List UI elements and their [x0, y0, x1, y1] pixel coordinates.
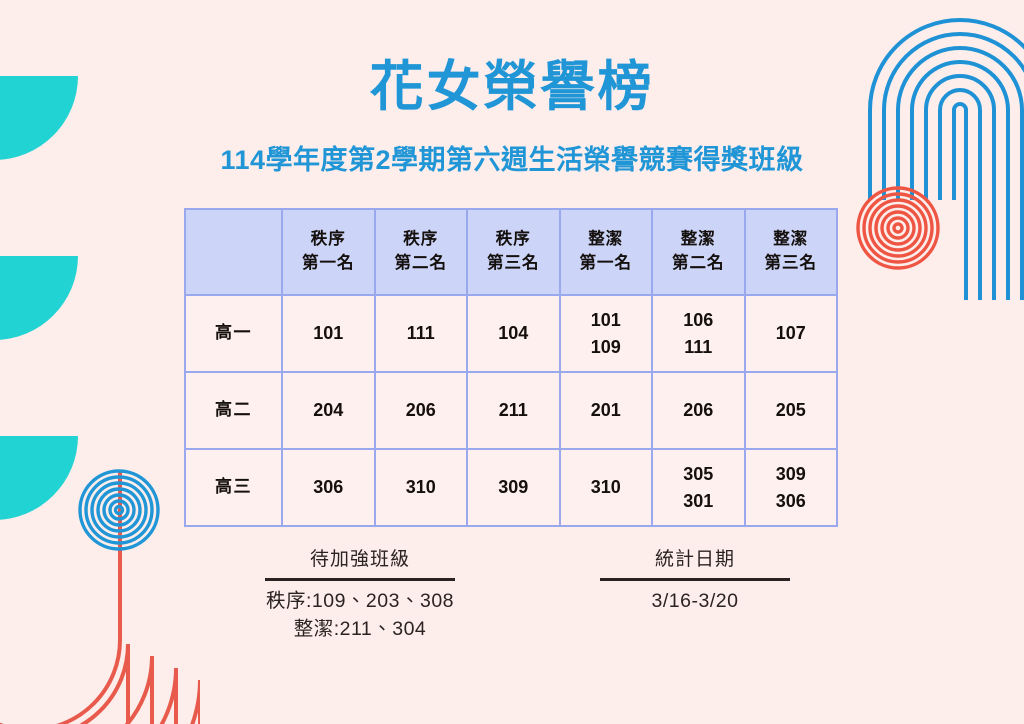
column-header-rank: 第三名	[468, 252, 559, 276]
statistics-date-block: 統計日期 3/16-3/20	[575, 548, 815, 615]
cell-value: 206	[653, 397, 744, 423]
table-cell: 205	[745, 372, 838, 449]
table-cell: 104	[467, 295, 560, 372]
cell-value: 101	[283, 320, 374, 346]
column-header-rank: 第二名	[653, 252, 744, 276]
row-header-grade: 高三	[185, 449, 282, 526]
column-header: 秩序 第一名	[282, 209, 375, 295]
column-header: 整潔 第三名	[745, 209, 838, 295]
needs-improvement-order-line: 秩序:109、203、308	[240, 587, 480, 615]
table-corner-cell	[185, 209, 282, 295]
cell-value: 204	[283, 397, 374, 423]
column-header-rank: 第一名	[561, 252, 652, 276]
table-cell: 101 109	[560, 295, 653, 372]
page-title: 花女榮譽榜	[0, 56, 1024, 118]
table-cell: 211	[467, 372, 560, 449]
column-header-rank: 第三名	[746, 252, 837, 276]
column-header-category: 整潔	[746, 228, 837, 252]
column-header-category: 秩序	[468, 228, 559, 252]
table-cell: 206	[652, 372, 745, 449]
table-cell: 101	[282, 295, 375, 372]
honor-roll-table: 秩序 第一名 秩序 第二名 秩序 第三名 整潔 第一名 整潔 第二名	[184, 208, 838, 527]
cell-value: 206	[376, 397, 467, 423]
cell-value: 309	[468, 474, 559, 500]
needs-improvement-block: 待加強班級 秩序:109、203、308 整潔:211、304	[240, 548, 480, 643]
column-header-rank: 第二名	[376, 252, 467, 276]
cell-value: 310	[376, 474, 467, 500]
table-cell: 204	[282, 372, 375, 449]
column-header-category: 整潔	[653, 228, 744, 252]
divider-rule	[265, 578, 455, 581]
cell-value: 306	[283, 474, 374, 500]
table-cell: 305 301	[652, 449, 745, 526]
cell-value-secondary: 306	[746, 488, 837, 514]
column-header: 秩序 第二名	[375, 209, 468, 295]
cell-value: 211	[468, 397, 559, 423]
table-cell: 310	[375, 449, 468, 526]
table-cell: 309	[467, 449, 560, 526]
cell-value: 305	[653, 461, 744, 487]
cell-value: 104	[468, 320, 559, 346]
statistics-date-title: 統計日期	[575, 548, 815, 573]
divider-rule	[600, 578, 790, 581]
table-cell: 201	[560, 372, 653, 449]
statistics-date-value: 3/16-3/20	[575, 587, 815, 615]
table-header-row: 秩序 第一名 秩序 第二名 秩序 第三名 整潔 第一名 整潔 第二名	[185, 209, 837, 295]
column-header: 整潔 第二名	[652, 209, 745, 295]
column-header: 秩序 第三名	[467, 209, 560, 295]
column-header-category: 秩序	[283, 228, 374, 252]
cell-value: 201	[561, 397, 652, 423]
column-header-category: 秩序	[376, 228, 467, 252]
needs-improvement-title: 待加強班級	[240, 548, 480, 573]
column-header-rank: 第一名	[283, 252, 374, 276]
cell-value: 107	[746, 320, 837, 346]
table-row: 高二 204 206 211 201 206	[185, 372, 837, 449]
column-header: 整潔 第一名	[560, 209, 653, 295]
page-subtitle: 114學年度第2學期第六週生活榮譽競賽得獎班級	[0, 144, 1024, 176]
cell-value: 309	[746, 461, 837, 487]
cell-value: 310	[561, 474, 652, 500]
column-header-category: 整潔	[561, 228, 652, 252]
table-cell: 107	[745, 295, 838, 372]
table-cell: 309 306	[745, 449, 838, 526]
table-cell: 310	[560, 449, 653, 526]
table-cell: 106 111	[652, 295, 745, 372]
row-header-grade: 高二	[185, 372, 282, 449]
row-header-grade: 高一	[185, 295, 282, 372]
table-row: 高一 101 111 104 101 109 106	[185, 295, 837, 372]
table-cell: 206	[375, 372, 468, 449]
cell-value: 205	[746, 397, 837, 423]
cell-value: 101	[561, 307, 652, 333]
cell-value-secondary: 301	[653, 488, 744, 514]
table-row: 高三 306 310 309 310 305	[185, 449, 837, 526]
needs-improvement-cleanliness-line: 整潔:211、304	[240, 615, 480, 643]
table-cell: 306	[282, 449, 375, 526]
cell-value: 106	[653, 307, 744, 333]
cell-value-secondary: 111	[653, 334, 744, 360]
table-cell: 111	[375, 295, 468, 372]
cell-value: 111	[376, 320, 467, 346]
cell-value-secondary: 109	[561, 334, 652, 360]
